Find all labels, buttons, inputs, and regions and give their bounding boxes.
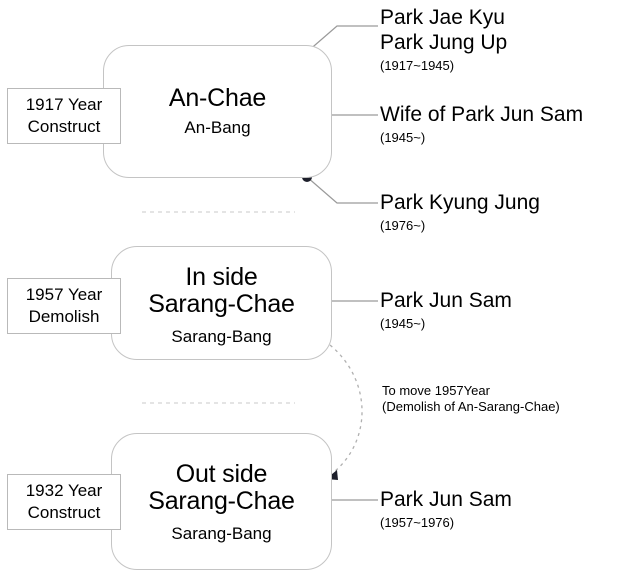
year-tag-1917-construct[interactable]: 1917 Year Construct — [7, 88, 121, 144]
occupant-2-years: (1945~) — [380, 129, 583, 146]
person-label-occupant-3[interactable]: Park Kyung Jung (1976~) — [380, 190, 540, 234]
node-an-chae-title: An-Chae — [104, 84, 331, 113]
occupant-2-name: Wife of Park Jun Sam — [380, 102, 583, 127]
occupant-3-name: Park Kyung Jung — [380, 190, 540, 215]
node-out-side-sarang-chae[interactable]: Out side Sarang-Chae Sarang-Bang — [111, 433, 332, 570]
occupant-5-years: (1957~1976) — [380, 514, 512, 531]
node-an-chae-subtitle: An-Bang — [104, 118, 331, 138]
occupant-1-years: (1917~1945) — [380, 57, 507, 74]
node-out-side-title-line1: Out side — [112, 460, 331, 489]
occupant-1-name-line1: Park Jae Kyu — [380, 5, 507, 30]
person-label-occupant-4[interactable]: Park Jun Sam (1945~) — [380, 288, 512, 332]
diagram-canvas: An-Chae An-Bang In side Sarang-Chae Sara… — [0, 0, 629, 581]
move-arrow-dashed-path — [330, 345, 362, 472]
person-label-occupant-1[interactable]: Park Jae Kyu Park Jung Up (1917~1945) — [380, 5, 507, 74]
occupant-4-name: Park Jun Sam — [380, 288, 512, 313]
year-tag-1932-construct[interactable]: 1932 Year Construct — [7, 474, 121, 530]
move-note-line2: (Demolish of An-Sarang-Chae) — [382, 399, 560, 415]
node-in-side-title-line1: In side — [112, 263, 331, 292]
year-tag-1917-line1: 1917 Year — [8, 94, 120, 116]
occupant-5-name: Park Jun Sam — [380, 487, 512, 512]
move-note-line1: To move 1957Year — [382, 383, 560, 399]
occupant-3-years: (1976~) — [380, 217, 540, 234]
person-label-occupant-5[interactable]: Park Jun Sam (1957~1976) — [380, 487, 512, 531]
person-label-occupant-2[interactable]: Wife of Park Jun Sam (1945~) — [380, 102, 583, 146]
node-in-side-title-line2: Sarang-Chae — [112, 290, 331, 319]
node-out-side-subtitle: Sarang-Bang — [112, 524, 331, 544]
occupant-1-name-line2: Park Jung Up — [380, 30, 507, 55]
move-note: To move 1957Year (Demolish of An-Sarang-… — [382, 383, 560, 415]
year-tag-1957-line1: 1957 Year — [8, 284, 120, 306]
node-an-chae[interactable]: An-Chae An-Bang — [103, 45, 332, 178]
occupant-4-years: (1945~) — [380, 315, 512, 332]
year-tag-1932-line1: 1932 Year — [8, 480, 120, 502]
node-in-side-subtitle: Sarang-Bang — [112, 327, 331, 347]
connector-an-chae-to-occupant-3 — [307, 177, 378, 203]
node-out-side-title-line2: Sarang-Chae — [112, 487, 331, 516]
node-in-side-sarang-chae[interactable]: In side Sarang-Chae Sarang-Bang — [111, 246, 332, 360]
year-tag-1932-line2: Construct — [8, 502, 120, 524]
year-tag-1957-line2: Demolish — [8, 306, 120, 328]
year-tag-1957-demolish[interactable]: 1957 Year Demolish — [7, 278, 121, 334]
year-tag-1917-line2: Construct — [8, 116, 120, 138]
